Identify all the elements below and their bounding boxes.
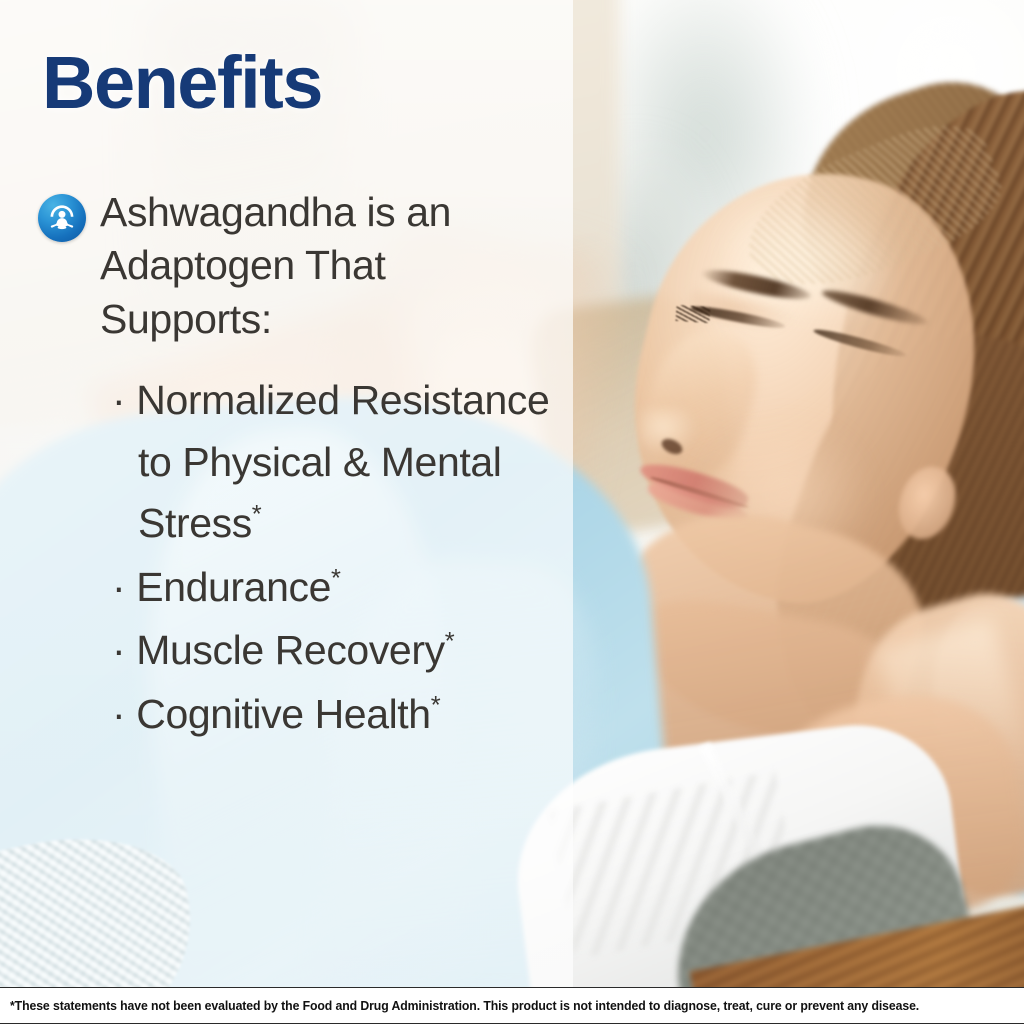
bullet-marker: ·: [112, 377, 125, 423]
bullet-marker: ·: [112, 691, 125, 737]
footnote-asterisk: *: [445, 627, 455, 655]
list-item-text: Muscle Recovery: [136, 627, 444, 673]
meditation-lotus-icon: [38, 194, 86, 242]
headline-row: Ashwagandha is an Adaptogen That Support…: [38, 186, 538, 346]
bullet-marker: ·: [112, 627, 125, 673]
list-item-text: Cognitive Health: [136, 691, 430, 737]
list-item: · Muscle Recovery*: [112, 620, 564, 682]
bullet-marker: ·: [112, 564, 125, 610]
footnote-asterisk: *: [331, 564, 341, 592]
list-item: · Endurance*: [112, 557, 564, 619]
footnote-asterisk: *: [431, 691, 441, 719]
list-item: · Normalized Resistance to Physical & Me…: [112, 370, 564, 555]
benefits-list: · Normalized Resistance to Physical & Me…: [112, 370, 564, 747]
list-item: · Cognitive Health*: [112, 684, 564, 746]
benefits-panel: Benefits Ashwagandha is an Adaptogen Tha…: [0, 0, 573, 1024]
page-title: Benefits: [42, 40, 322, 125]
footnote-asterisk: *: [252, 500, 262, 528]
fda-disclaimer-bar: *These statements have not been evaluate…: [0, 987, 1024, 1024]
headline-text: Ashwagandha is an Adaptogen That Support…: [100, 186, 538, 346]
list-item-text: Endurance: [136, 564, 331, 610]
fda-disclaimer-text: *These statements have not been evaluate…: [10, 998, 919, 1013]
product-benefits-image: Benefits Ashwagandha is an Adaptogen Tha…: [0, 0, 1024, 1024]
list-item-text: Normalized Resistance to Physical & Ment…: [136, 377, 549, 546]
